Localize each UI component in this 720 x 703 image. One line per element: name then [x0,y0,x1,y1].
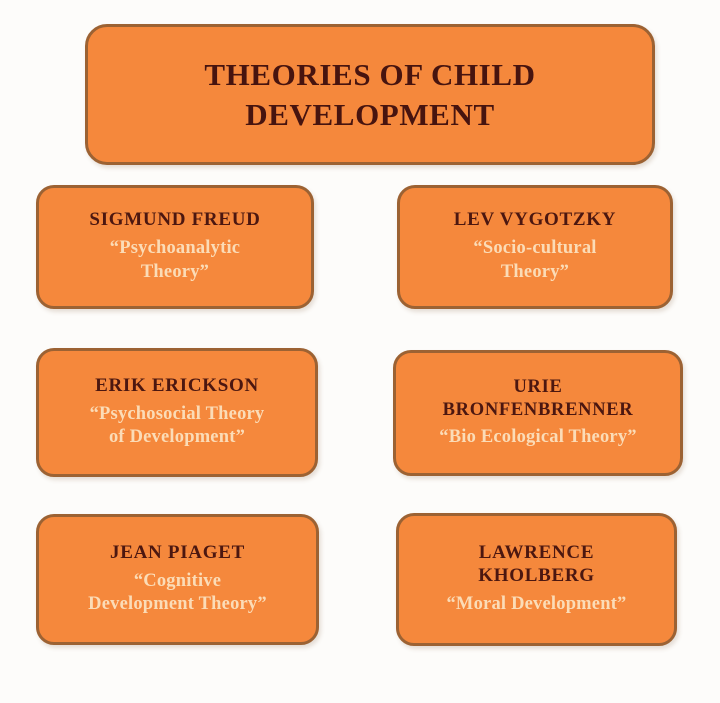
diagram-title-box: THEORIES OF CHILD DEVELOPMENT [85,24,655,165]
theory-card-sigmund-freud[interactable]: SIGMUND FREUD “Psychoanalytic Theory” [36,185,314,309]
theorist-name: URIE BRONFENBRENNER [443,376,634,420]
theory-card-lawrence-kholberg[interactable]: LAWRENCE KHOLBERG “Moral Development” [396,513,677,646]
theorist-name: SIGMUND FREUD [89,209,260,232]
diagram-canvas: THEORIES OF CHILD DEVELOPMENT SIGMUND FR… [0,0,720,703]
theory-card-jean-piaget[interactable]: JEAN PIAGET “Cognitive Development Theor… [36,514,319,645]
theorist-name: LEV VYGOTZKY [454,209,616,232]
theorist-name: LAWRENCE KHOLBERG [478,542,594,588]
theory-label: “Bio Ecological Theory” [431,426,644,450]
diagram-title: THEORIES OF CHILD DEVELOPMENT [88,55,652,134]
theory-label: “Psychoanalytic Theory” [102,237,248,284]
theory-card-lev-vygotzky[interactable]: LEV VYGOTZKY “Socio-cultural Theory” [397,185,673,309]
theorist-name: JEAN PIAGET [110,542,245,565]
theory-label: “Moral Development” [438,593,634,617]
theorist-name: ERIK ERICKSON [95,375,259,398]
theory-card-urie-bronfenbrenner[interactable]: URIE BRONFENBRENNER “Bio Ecological Theo… [393,350,683,476]
theory-card-erik-erickson[interactable]: ERIK ERICKSON “Psychosocial Theory of De… [36,348,318,477]
theory-label: “Psychosocial Theory of Development” [82,403,273,450]
theory-label: “Socio-cultural Theory” [465,237,604,284]
theory-label: “Cognitive Development Theory” [80,570,275,617]
